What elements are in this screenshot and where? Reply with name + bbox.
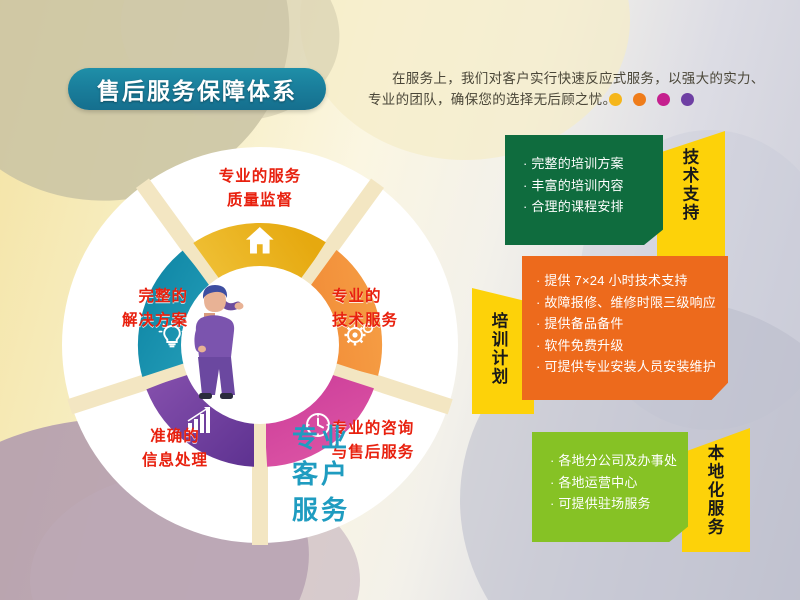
subtitle-text: 在服务上，我们对客户实行快速反应式服务，以强大的实力、 专业的团队，确保您的选择… (368, 68, 768, 110)
panel-tab-label: 培训计划 (488, 312, 507, 386)
subtitle-line-1: 在服务上，我们对客户实行快速反应式服务，以强大的实力、 (368, 68, 768, 89)
panel-localized-service: 本地化服务 各地分公司及办事处各地运营中心可提供驻场服务 (532, 428, 750, 552)
panel-item-list: 提供 7×24 小时技术支持故障报修、维修时限三级响应提供备品备件软件免费升级可… (522, 256, 728, 378)
panel-box-localized-service: 各地分公司及办事处各地运营中心可提供驻场服务 (532, 432, 688, 542)
panel-tab-label: 本地化服务 (704, 444, 723, 537)
panel-list-item: 提供备品备件 (536, 313, 728, 335)
panel-list-item: 软件免费升级 (536, 335, 728, 357)
page-title: 售后服务保障体系 (97, 72, 297, 106)
panel-item-list: 完整的培训方案丰富的培训内容合理的课程安排 (505, 135, 663, 218)
decorative-dot-row (609, 93, 694, 106)
panel-list-item: 合理的课程安排 (523, 196, 663, 218)
panel-list-item: 丰富的培训内容 (523, 175, 663, 197)
title-badge: 售后服务保障体系 (68, 68, 326, 110)
panel-list-item: 可提供专业安装人员安装维护 (536, 356, 728, 378)
panel-list-item: 各地分公司及办事处 (550, 450, 688, 472)
dot-yellow (609, 93, 622, 106)
poster-canvas: 售后服务保障体系 在服务上，我们对客户实行快速反应式服务，以强大的实力、 专业的… (0, 0, 800, 600)
panel-tab-tech-support: 技术支持 (657, 131, 725, 256)
subtitle-line-2: 专业的团队，确保您的选择无后顾之忧。 (368, 89, 768, 110)
panel-list-item: 可提供驻场服务 (550, 493, 688, 515)
wheel-label-left: 完整的 解决方案 (38, 285, 188, 333)
dot-purple (681, 93, 694, 106)
panel-tab-localized-service: 本地化服务 (682, 428, 750, 552)
panel-list-item: 完整的培训方案 (523, 153, 663, 175)
wheel-label-bottom-left: 准确的 信息处理 (90, 425, 260, 473)
dot-orange (633, 93, 646, 106)
panel-box-training-plan: 提供 7×24 小时技术支持故障报修、维修时限三级响应提供备品备件软件免费升级可… (522, 256, 728, 400)
panel-list-item: 各地运营中心 (550, 472, 688, 494)
panel-list-item: 提供 7×24 小时技术支持 (536, 270, 728, 292)
panel-tab-label: 技术支持 (679, 148, 698, 222)
panel-box-tech-support: 完整的培训方案丰富的培训内容合理的课程安排 (505, 135, 663, 245)
wheel-label-right: 专业的 技术服务 (332, 285, 482, 333)
dot-magenta (657, 93, 670, 106)
panel-list-item: 故障报修、维修时限三级响应 (536, 292, 728, 314)
service-wheel-diagram: 专业的服务 质量监督 专业的 技术服务 专业的咨询 与售后服务 准确的 信息处理… (60, 145, 460, 545)
panel-training-plan: 培训计划 提供 7×24 小时技术支持故障报修、维修时限三级响应提供备品备件软件… (472, 256, 728, 414)
panel-item-list: 各地分公司及办事处各地运营中心可提供驻场服务 (532, 432, 688, 515)
panel-tech-support: 技术支持 完整的培训方案丰富的培训内容合理的课程安排 (505, 131, 725, 256)
wheel-label-top: 专业的服务 质量监督 (170, 165, 350, 213)
wheel-center-title: 专业 客户 服务 (260, 420, 382, 528)
